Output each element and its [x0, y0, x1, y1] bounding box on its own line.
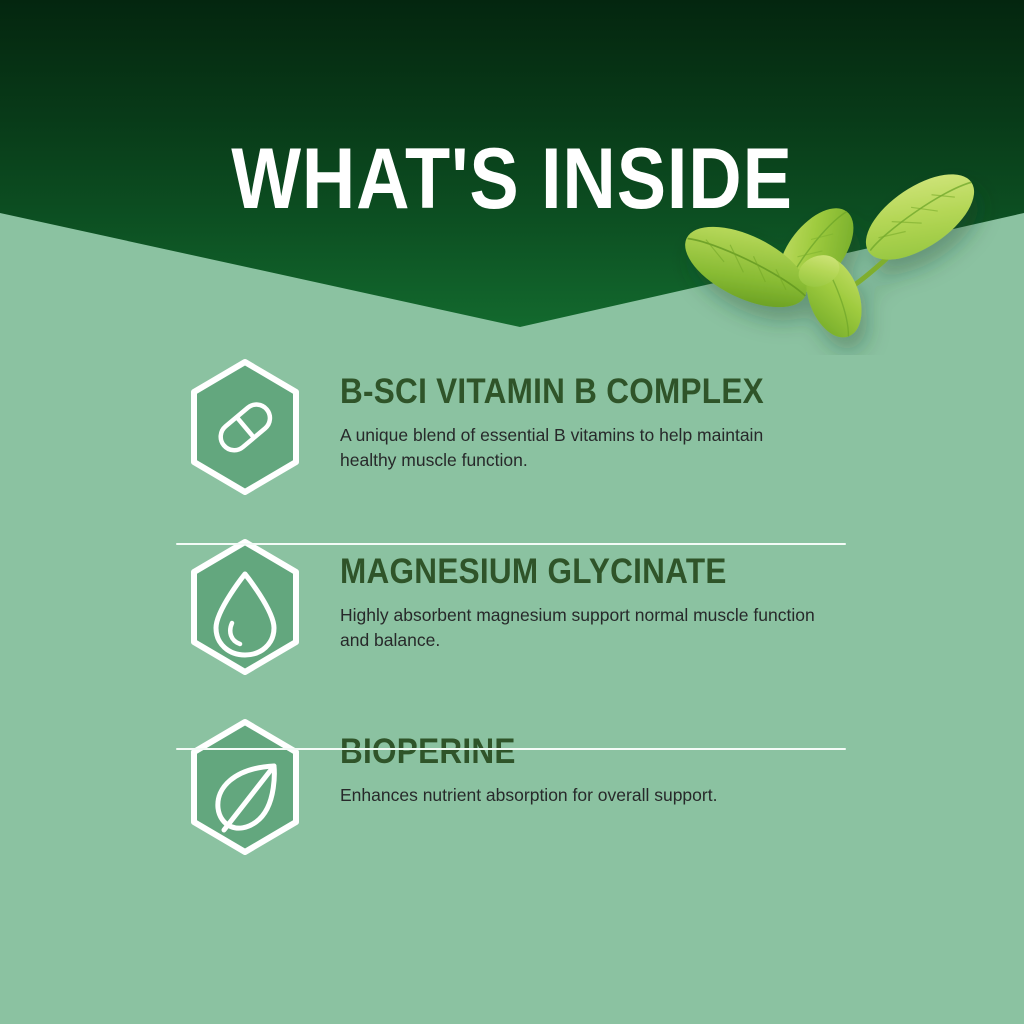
water-droplet-icon: [186, 538, 304, 676]
feature-text-block: BIOPERINE Enhances nutrient absorption f…: [340, 712, 717, 808]
feature-row-bioperine: BIOPERINE Enhances nutrient absorption f…: [0, 712, 1024, 892]
feature-description: A unique blend of essential B vitamins t…: [340, 423, 815, 473]
feature-text-block: B-SCI VITAMIN B COMPLEX A unique blend o…: [340, 352, 815, 472]
feature-title: BIOPERINE: [340, 734, 680, 771]
feature-description: Enhances nutrient absorption for overall…: [340, 783, 717, 808]
feature-title: MAGNESIUM GLYCINATE: [340, 554, 768, 591]
pill-capsule-icon: [186, 358, 304, 496]
what-is-inside-infographic: WHAT'S INSIDE: [0, 0, 1024, 1024]
feature-row-vitamin-b-complex: B-SCI VITAMIN B COMPLEX A unique blend o…: [0, 352, 1024, 532]
feature-title: B-SCI VITAMIN B COMPLEX: [340, 374, 768, 411]
feature-row-magnesium-glycinate: MAGNESIUM GLYCINATE Highly absorbent mag…: [0, 532, 1024, 712]
feature-divider: [176, 543, 846, 545]
page-title: WHAT'S INSIDE: [72, 136, 953, 222]
leaf-icon: [186, 718, 304, 856]
feature-text-block: MAGNESIUM GLYCINATE Highly absorbent mag…: [340, 532, 815, 652]
feature-list: B-SCI VITAMIN B COMPLEX A unique blend o…: [0, 352, 1024, 892]
feature-description: Highly absorbent magnesium support norma…: [340, 603, 815, 653]
feature-divider: [176, 748, 846, 750]
